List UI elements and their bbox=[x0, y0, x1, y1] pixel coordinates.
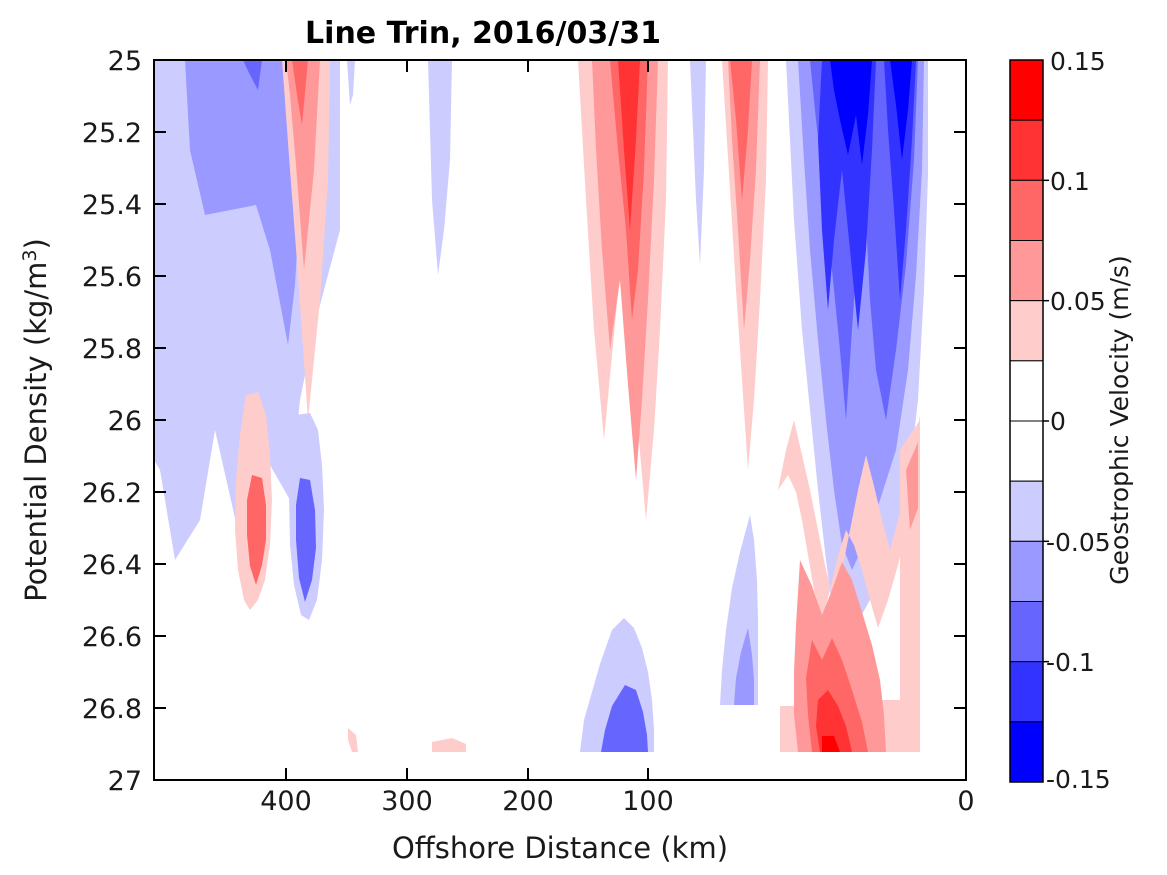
svg-text:Geostrophic Velocity (m/s): Geostrophic Velocity (m/s) bbox=[1105, 255, 1134, 585]
colorbar[interactable]: 0.15 0.1 0.05 0 -0.05 -0.1 -0.15 Geostro… bbox=[1010, 47, 1134, 794]
colorbar-tick-label-neg-0-05: -0.05 bbox=[1046, 528, 1111, 557]
colorbar-title: Geostrophic Velocity (m/s) bbox=[1105, 255, 1134, 585]
colorbar-band-11 bbox=[1010, 60, 1043, 120]
colorbar-tick-label-0-1: 0.1 bbox=[1050, 167, 1090, 196]
colorbar-band-4 bbox=[1010, 481, 1043, 541]
colorbar-band-7 bbox=[1010, 301, 1043, 361]
x-tick-label-0: 0 bbox=[957, 786, 974, 817]
colorbar-band-8 bbox=[1010, 241, 1043, 301]
y-tick-label-26-2: 26.2 bbox=[82, 478, 142, 509]
x-tick-label-100: 100 bbox=[622, 786, 674, 817]
y-tick-label-25-2: 25.2 bbox=[82, 118, 142, 149]
y-tick-label-26-4: 26.4 bbox=[82, 550, 142, 581]
y-axis-title-prefix: Potential Density (kg/m bbox=[19, 262, 53, 602]
colorbar-tick-label-neg-0-1: -0.1 bbox=[1046, 648, 1095, 677]
contour-white-bottom-mask bbox=[154, 752, 966, 780]
colorbar-band-3 bbox=[1010, 541, 1043, 601]
y-tick-label-25-4: 25.4 bbox=[82, 190, 142, 221]
colorbar-tick-label-0-05: 0.05 bbox=[1050, 287, 1106, 316]
x-axis-title: Offshore Distance (km) bbox=[392, 831, 728, 865]
y-tick-label-25-6: 25.6 bbox=[82, 262, 142, 293]
plot-svg: 400 300 200 100 0 Offshore Distance (km)… bbox=[0, 0, 1167, 875]
y-tick-label-27: 27 bbox=[108, 766, 142, 797]
y-axis-title-sup: 3 bbox=[19, 249, 41, 261]
colorbar-band-5 bbox=[1010, 421, 1043, 481]
colorbar-band-9 bbox=[1010, 180, 1043, 240]
y-tick-label-26-8: 26.8 bbox=[82, 694, 142, 725]
colorbar-band-10 bbox=[1010, 120, 1043, 180]
y-tick-label-26: 26 bbox=[108, 406, 142, 437]
colorbar-band-2 bbox=[1010, 602, 1043, 662]
y-tick-label-25-8: 25.8 bbox=[82, 334, 142, 365]
x-tick-label-300: 300 bbox=[381, 786, 433, 817]
colorbar-tick-label-0: 0 bbox=[1050, 407, 1066, 436]
colorbar-band-1 bbox=[1010, 662, 1043, 722]
colorbar-tick-label-neg-0-15: -0.15 bbox=[1046, 765, 1111, 794]
figure-root: Line Trin, 2016/03/31 bbox=[0, 0, 1167, 875]
contour-field bbox=[154, 60, 966, 780]
y-axis-title: Potential Density (kg/m3) bbox=[19, 238, 53, 602]
y-tick-label-26-6: 26.6 bbox=[82, 622, 142, 653]
y-tick-label-25: 25 bbox=[108, 46, 142, 77]
colorbar-band-6 bbox=[1010, 361, 1043, 421]
x-tick-label-200: 200 bbox=[502, 786, 554, 817]
colorbar-band-0 bbox=[1010, 722, 1043, 782]
colorbar-tick-label-0-15: 0.15 bbox=[1050, 47, 1106, 76]
contour-white-step-mask bbox=[710, 706, 780, 752]
contour-white-bottom-mask-2 bbox=[868, 752, 966, 780]
svg-text:Potential Density (kg/m3): Potential Density (kg/m3) bbox=[19, 238, 53, 602]
y-axis-title-suffix: ) bbox=[19, 238, 53, 249]
colorbar-ticks bbox=[1043, 180, 1049, 661]
x-tick-label-400: 400 bbox=[260, 786, 312, 817]
